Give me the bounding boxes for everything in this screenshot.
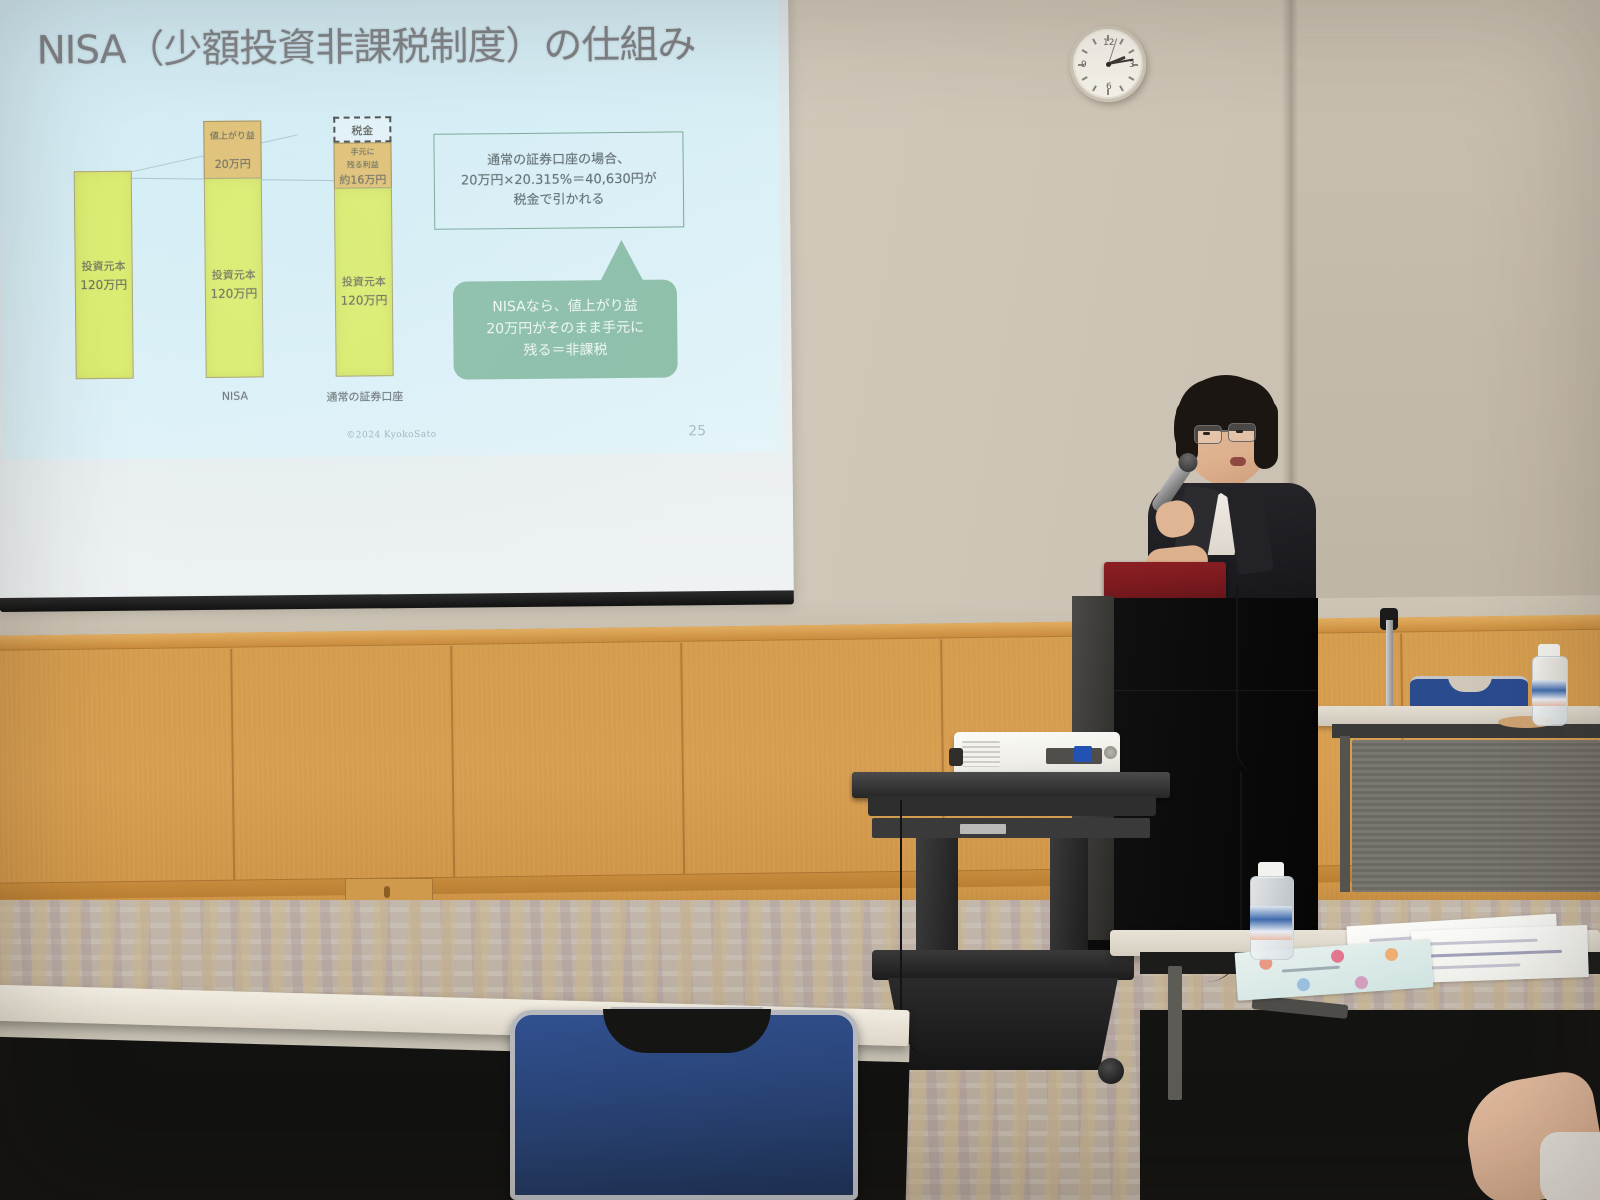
- bar-gain-value-2: 20万円: [205, 155, 261, 172]
- bar-baseline-principal: 投資元本 120万円: [74, 171, 134, 380]
- av-cart-column-rear: [1050, 838, 1088, 954]
- microphone-cable: [1236, 586, 1264, 776]
- clock-tick: [1092, 85, 1097, 91]
- bar-nisa-principal: 投資元本 120万円: [204, 177, 264, 378]
- bubble-line-2: 20万円がそのまま手元に: [486, 320, 644, 338]
- handout-sheet: [1411, 925, 1589, 983]
- nisa-benefit-speech-bubble: NISAなら、値上がり益 20万円がそのまま手元に 残る＝非課税: [453, 279, 678, 379]
- chair-handle-notch: [1448, 676, 1492, 692]
- clock-tick: [1128, 49, 1134, 54]
- av-cart-caster: [1098, 1058, 1124, 1084]
- clock-tick: [1092, 39, 1097, 45]
- clock-numeral-9: 9: [1081, 60, 1087, 70]
- bar-principal-label-1: 投資元本: [76, 258, 132, 275]
- clock-numeral-3: 3: [1129, 60, 1135, 70]
- presenter-glasses-bridge: [1220, 430, 1228, 432]
- booklet-graphic-dot: [1385, 948, 1399, 962]
- tax-note-line-3: 税金で引かれる: [513, 192, 604, 208]
- av-cart-label-plate: [960, 824, 1006, 834]
- seminar-room-photo: NISA（少額投資非課税制度）の仕組み 投資元本 120万円 値上がり益 20万…: [0, 0, 1600, 1200]
- water-bottle-front: [1246, 862, 1296, 958]
- bar-taxable-principal: 投資元本 120万円: [334, 187, 394, 377]
- podium-seam: [1114, 690, 1318, 691]
- clock-tick: [1119, 85, 1124, 91]
- tax-calculation-note-box: 通常の証券口座の場合、 20万円×20.315%＝40,630円が 税金で引かれ…: [433, 131, 684, 229]
- projector-lens: [949, 748, 963, 766]
- booklet-text-line: [1282, 966, 1340, 973]
- presenter-eye-left: [1203, 432, 1210, 435]
- slide-copyright: ©2024 KyokoSato: [346, 430, 436, 441]
- presenter-mouth: [1230, 457, 1246, 466]
- screen-surface: NISA（少額投資非課税制度）の仕組み 投資元本 120万円 値上がり益 20万…: [0, 0, 794, 610]
- bar-taxable-gain: 手元に 残る利益 約16万円: [333, 142, 391, 189]
- booklet-graphic-dot: [1297, 978, 1311, 992]
- bar-gain-label-3a: 手元に: [335, 146, 391, 158]
- back-table-leg: [1340, 736, 1350, 892]
- clock-tick: [1082, 49, 1088, 54]
- presenter-eye-right: [1236, 430, 1243, 433]
- handout-text-line: [1428, 950, 1562, 958]
- tax-note-text: 通常の証券口座の場合、 20万円×20.315%＝40,630円が 税金で引かれ…: [461, 149, 657, 211]
- handout-text-line: [1428, 939, 1538, 946]
- outlet-screw: [384, 886, 390, 898]
- bottle-label: [1250, 906, 1292, 940]
- audience-sleeve: [1540, 1132, 1600, 1200]
- bar-gain-value-3: 約16万円: [335, 171, 391, 188]
- bar-principal-value-3: 120万円: [336, 291, 392, 309]
- nisa-stacked-bar-chart: 投資元本 120万円 値上がり益 20万円 投資元本 120万円 NISA: [0, 0, 782, 460]
- speech-bubble-text: NISAなら、値上がり益 20万円がそのまま手元に 残る＝非課税: [486, 296, 644, 363]
- mic-stand-pole: [1386, 620, 1393, 712]
- bubble-line-1: NISAなら、値上がり益: [492, 298, 637, 315]
- wall-clock: 12 3 6 9: [1070, 26, 1146, 102]
- presenter-hair-right: [1254, 399, 1278, 469]
- bar-gain-label-3b: 残る利益: [335, 159, 391, 171]
- bar-nisa-gain: 値上がり益 20万円: [203, 120, 262, 179]
- clock-face: 12 3 6 9: [1075, 31, 1141, 97]
- clock-tick: [1128, 76, 1134, 81]
- back-table-apron: [1332, 724, 1600, 738]
- booklet-graphic-dot: [1355, 976, 1369, 990]
- bar-principal-label-2: 投資元本: [206, 266, 262, 283]
- clock-center-pin: [1106, 62, 1111, 67]
- projection-screen: NISA（少額投資非課税制度）の仕組み 投資元本 120万円 値上がり益 20万…: [0, 0, 794, 632]
- podium-top-surface: [1104, 562, 1226, 602]
- bubble-line-3: 残る＝非課税: [523, 342, 607, 359]
- av-cart-top: [852, 772, 1170, 798]
- bottle-label: [1532, 680, 1566, 706]
- projected-slide: NISA（少額投資非課税制度）の仕組み 投資元本 120万円 値上がり益 20万…: [0, 0, 782, 460]
- booklet-graphic-dot: [1331, 949, 1345, 963]
- clock-tick: [1082, 76, 1088, 81]
- back-table-modesty-panel: [1352, 740, 1600, 892]
- bar-gain-label-2: 値上がり益: [204, 128, 260, 142]
- handout-text-line: [1428, 963, 1520, 969]
- bar-principal-label-3: 投資元本: [336, 273, 392, 290]
- projector-speaker: [1104, 746, 1117, 759]
- speech-bubble-tail: [599, 240, 643, 282]
- bar-taxable-tax-box: 税金: [333, 116, 391, 143]
- front-right-table-leg: [1168, 966, 1182, 1100]
- right-wall: [1290, 0, 1600, 640]
- tax-note-line-2: 20万円×20.315%＝40,630円が: [461, 172, 657, 189]
- clock-tick: [1119, 39, 1124, 45]
- water-bottle-back: [1528, 644, 1570, 724]
- slide-page-number: 25: [688, 423, 706, 439]
- chair-handle-notch: [603, 1009, 771, 1053]
- bar-principal-value-2: 120万円: [206, 284, 262, 302]
- projector-vga-connector: [1074, 746, 1092, 762]
- bar-tax-label-3: 税金: [335, 122, 389, 139]
- clock-numeral-6: 6: [1106, 82, 1112, 92]
- bar-principal-value-1: 120万円: [76, 276, 132, 294]
- bar-axis-label-nisa: NISA: [206, 389, 264, 403]
- blue-chair-foreground: [510, 1010, 858, 1200]
- projector-vent: [962, 741, 1000, 767]
- bar-axis-label-taxable: 通常の証券口座: [310, 388, 420, 405]
- tax-note-line-1: 通常の証券口座の場合、: [487, 152, 630, 168]
